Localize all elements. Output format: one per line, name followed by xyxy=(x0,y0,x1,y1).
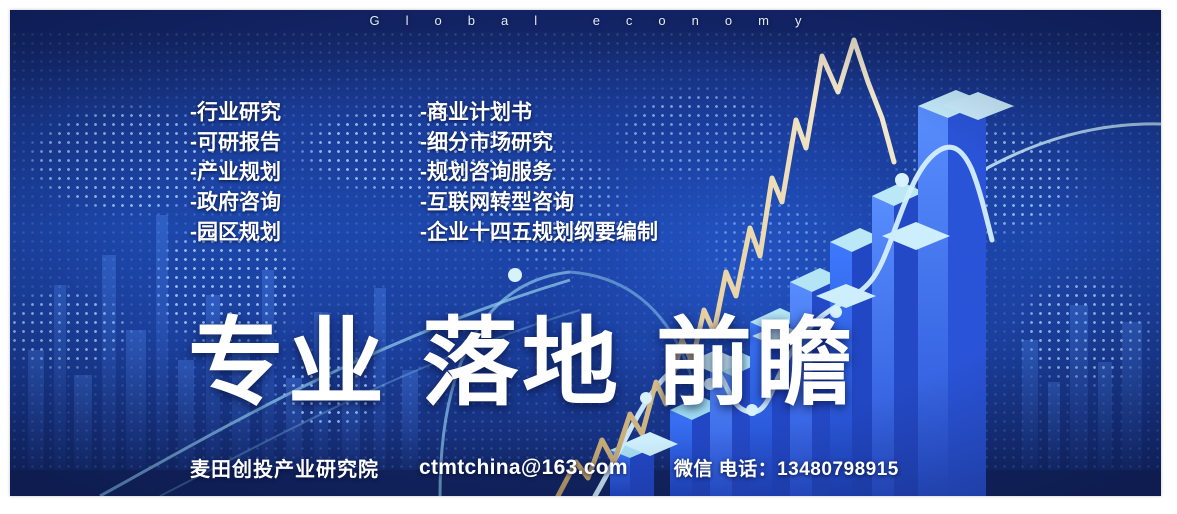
service-list-right: -商业计划书 -细分市场研究 -规划咨询服务 -互联网转型咨询 -企业十四五规划… xyxy=(420,98,658,248)
kicker-text: Global economy xyxy=(10,10,1161,33)
service-item: -企业十四五规划纲要编制 xyxy=(420,218,658,248)
edge-vignette xyxy=(10,10,1161,496)
contact-row: 麦田创投产业研究院ctmtchina@163.com微信 电话：13480798… xyxy=(190,453,1090,483)
service-item: -商业计划书 xyxy=(420,98,658,128)
service-item: -互联网转型咨询 xyxy=(420,188,658,218)
headline: 专业落地前瞻 xyxy=(188,310,1048,420)
email-address[interactable]: ctmtchina@163.com xyxy=(419,456,628,480)
service-item: -产业规划 xyxy=(190,158,281,188)
service-item: -细分市场研究 xyxy=(420,128,658,158)
headline-word-2: 落地 xyxy=(422,310,622,418)
service-item: -可研报告 xyxy=(190,128,281,158)
headline-word-3: 前瞻 xyxy=(656,310,856,418)
service-item: -政府咨询 xyxy=(190,188,281,218)
service-item: -规划咨询服务 xyxy=(420,158,658,188)
wechat-phone: 微信 电话：13480798915 xyxy=(674,454,899,481)
organization-name: 麦田创投产业研究院 xyxy=(190,453,379,482)
promo-banner: Global economy -行业研究 -可研报告 -产业规划 -政府咨询 -… xyxy=(10,10,1161,496)
headline-word-1: 专业 xyxy=(188,310,388,418)
service-item: -园区规划 xyxy=(190,218,281,248)
service-list-left: -行业研究 -可研报告 -产业规划 -政府咨询 -园区规划 xyxy=(190,98,281,248)
service-item: -行业研究 xyxy=(190,98,281,128)
